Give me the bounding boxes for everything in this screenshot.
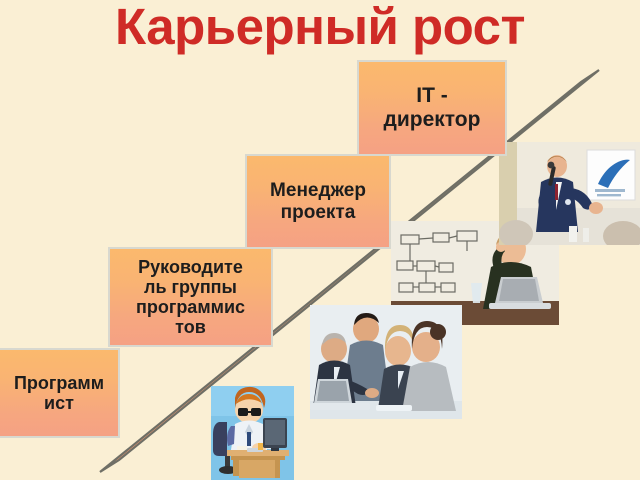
career-step-team-lead[interactable]: Руководите ль группы программис тов: [108, 247, 273, 347]
photo-presenter: [499, 142, 640, 245]
page-title: Карьерный рост: [0, 0, 640, 56]
career-step-label: Руководите ль группы программис тов: [110, 257, 271, 338]
career-step-label: Менеджер проекта: [247, 180, 389, 223]
photo-team: [310, 305, 462, 419]
career-step-label: IT - директор: [359, 84, 505, 131]
career-step-programmer[interactable]: Программ ист: [0, 348, 120, 438]
photo-cartoon: [211, 386, 294, 480]
career-step-project-manager[interactable]: Менеджер проекта: [245, 154, 391, 249]
career-growth-slide: Карьерный рост: [0, 0, 640, 480]
career-step-label: Программ ист: [0, 373, 118, 413]
career-step-it-director[interactable]: IT - директор: [357, 60, 507, 156]
